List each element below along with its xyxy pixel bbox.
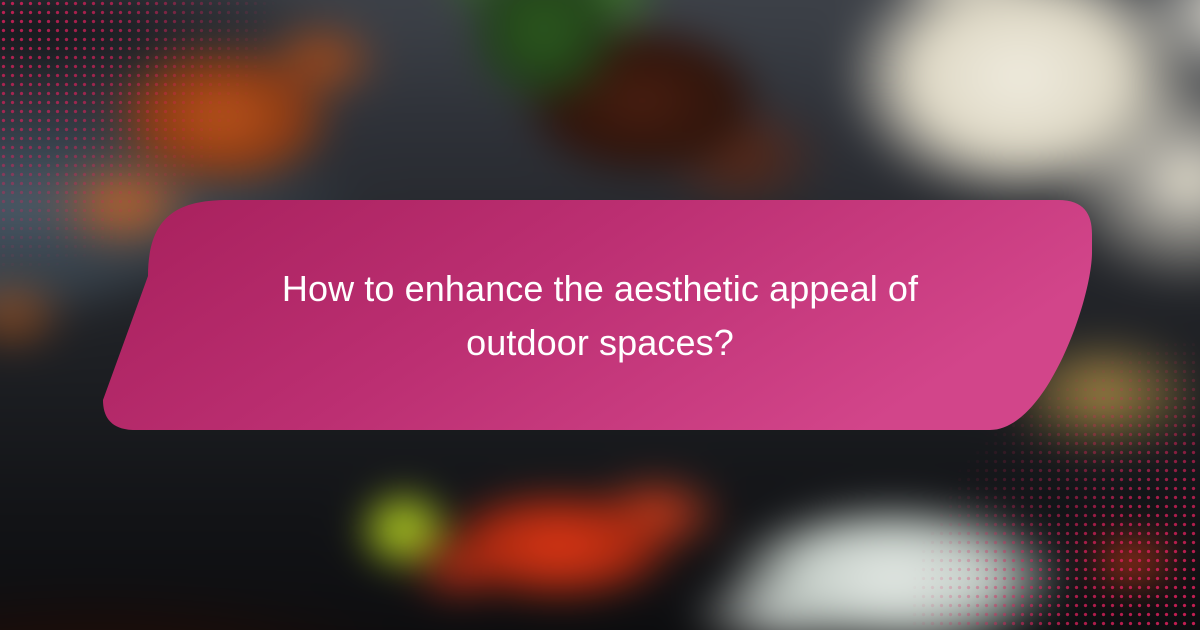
social-share-card: How to enhance the aesthetic appeal of o… (0, 0, 1200, 630)
question-card: How to enhance the aesthetic appeal of o… (0, 0, 1200, 630)
question-text: How to enhance the aesthetic appeal of o… (195, 262, 1005, 370)
